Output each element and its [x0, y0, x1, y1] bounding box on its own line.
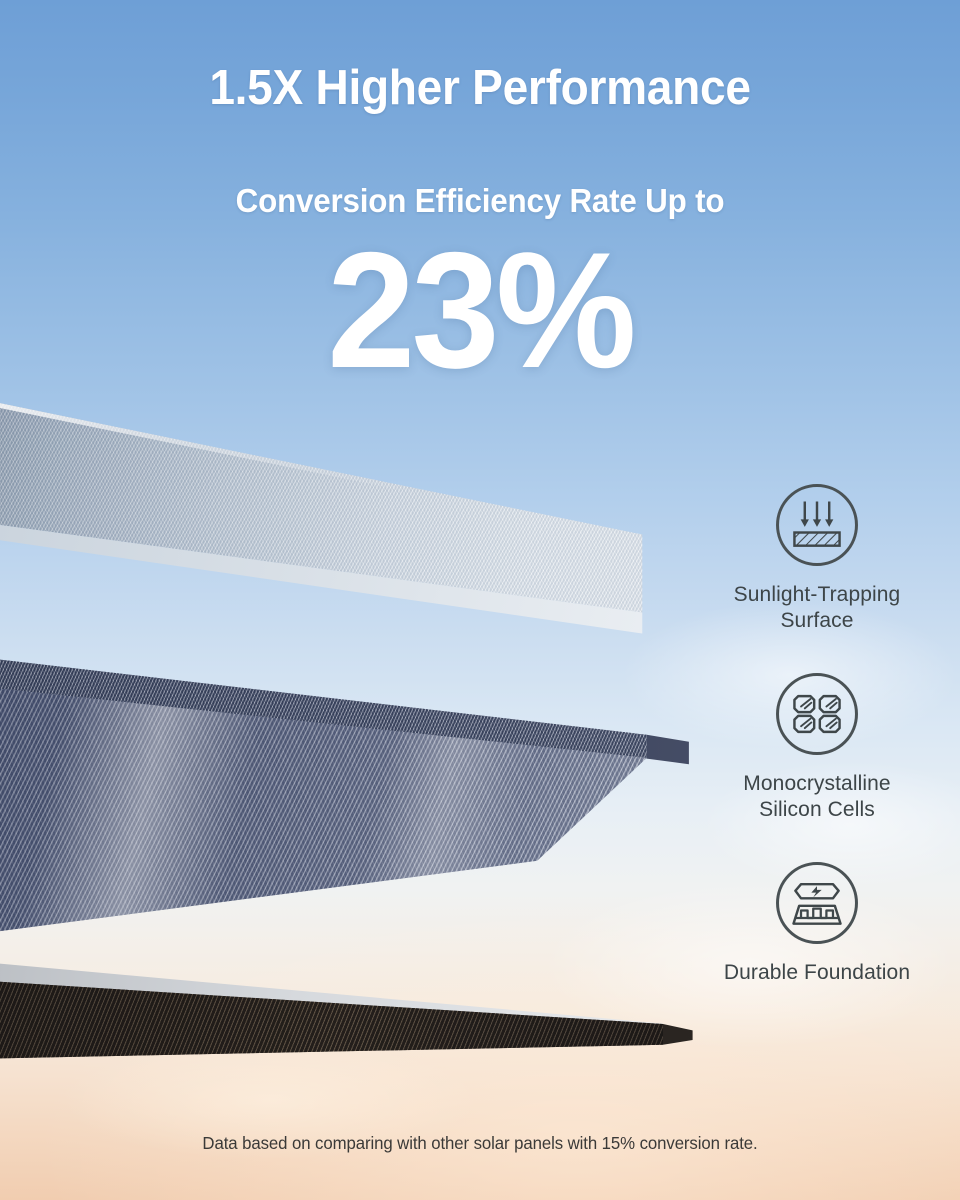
footnote-disclaimer: Data based on comparing with other solar… [19, 1133, 941, 1154]
feature-label: Monocrystalline Silicon Cells [743, 771, 890, 822]
feature-item-monocrystalline-cells: Monocrystalline Silicon Cells [743, 667, 890, 822]
feature-label: Durable Foundation [724, 960, 910, 986]
sunlight-trapping-icon [770, 478, 864, 572]
durable-foundation-icon [770, 856, 864, 950]
subheadline: Conversion Efficiency Rate Up to [24, 182, 936, 220]
efficiency-big-number: 23% [19, 228, 941, 393]
feature-label: Sunlight-Trapping Surface [734, 582, 901, 633]
headline: 1.5X Higher Performance [29, 60, 931, 116]
feature-list: Sunlight-Trapping Surface Monocrysta [688, 478, 946, 986]
solar-panel-promo-poster: 1.5X Higher Performance Conversion Effic… [0, 0, 960, 1200]
feature-item-sunlight-trapping: Sunlight-Trapping Surface [734, 478, 901, 633]
feature-item-durable-foundation: Durable Foundation [724, 856, 910, 986]
monocrystalline-cells-icon [770, 667, 864, 761]
